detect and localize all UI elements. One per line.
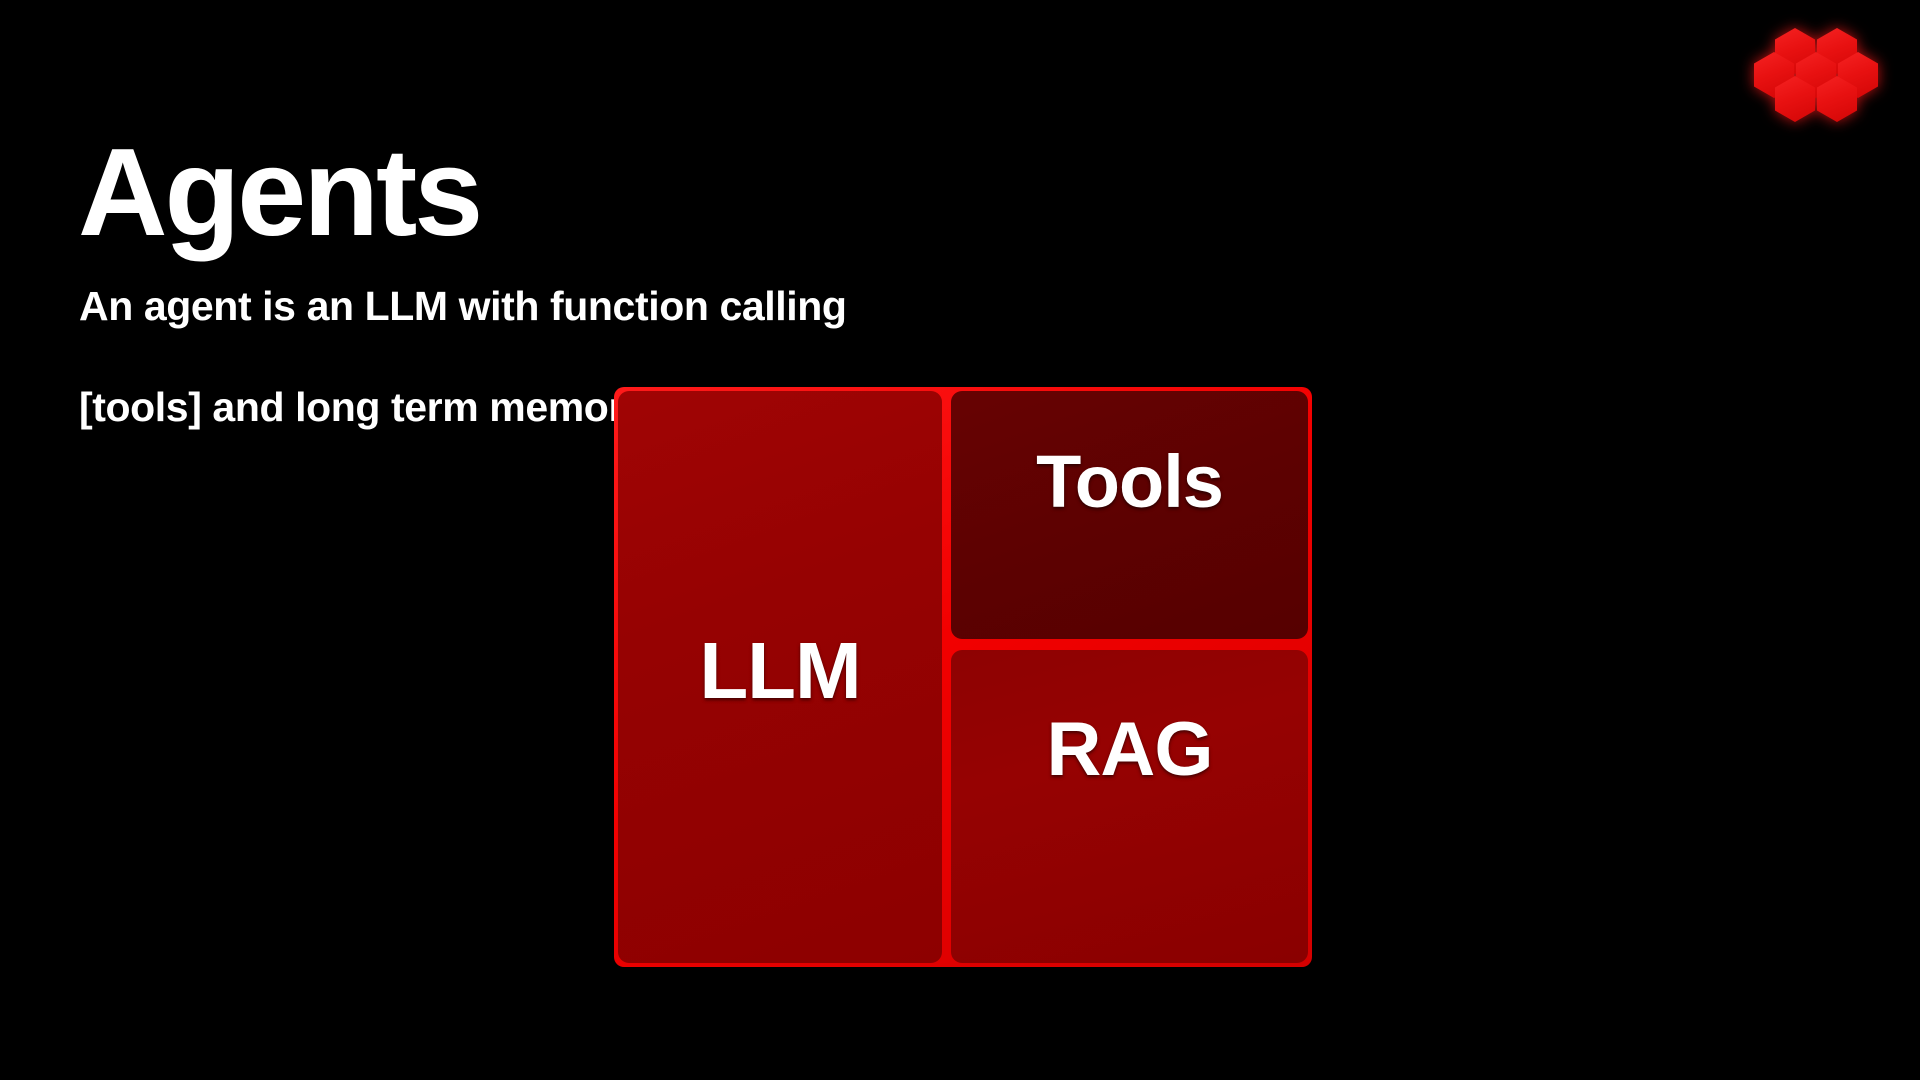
panel-llm[interactable]: LLM xyxy=(618,391,942,963)
panel-rag-label: RAG xyxy=(1047,712,1213,788)
panel-tools-label: Tools xyxy=(1036,445,1223,519)
subtitle-line-1: An agent is an LLM with function calling xyxy=(79,281,847,332)
diagram-right-column: Tools RAG xyxy=(951,391,1308,963)
hexagon-group xyxy=(1754,28,1878,122)
panel-tools[interactable]: Tools xyxy=(951,391,1308,639)
diagram-left-column: LLM xyxy=(618,391,942,963)
slide-root: Agents An agent is an LLM with function … xyxy=(0,0,1920,1080)
agent-architecture-diagram: LLM Tools RAG xyxy=(614,387,1312,967)
hexagon-cluster-logo xyxy=(1754,22,1878,138)
panel-rag[interactable]: RAG xyxy=(951,650,1308,963)
panel-llm-label: LLM xyxy=(699,631,860,711)
